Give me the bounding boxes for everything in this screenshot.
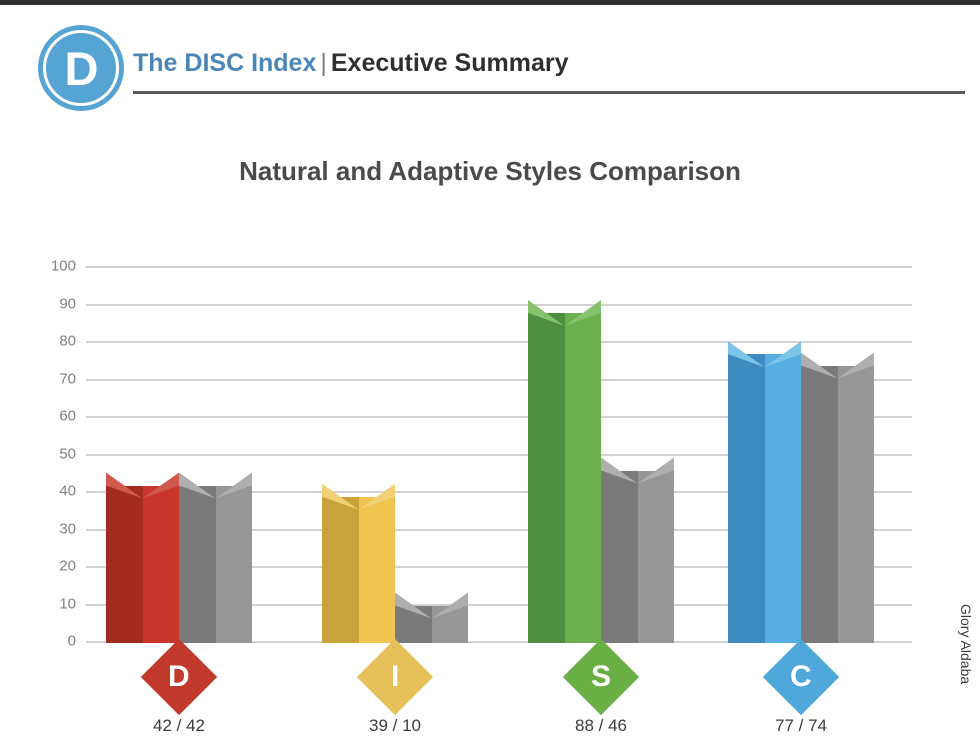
bar-left-face [179, 486, 216, 644]
y-axis-tick-label: 70 [59, 370, 76, 387]
page-title: The DISC Index|Executive Summary [133, 49, 569, 78]
category-diamond-d: D [141, 639, 217, 715]
y-axis-tick-label: 60 [59, 408, 76, 425]
category-letter: S [591, 662, 611, 692]
category-group-s: S88 / 46 [521, 650, 681, 736]
bar-right-face [143, 486, 180, 644]
category-letter: D [168, 662, 190, 692]
bar-adaptive-c [801, 366, 874, 644]
bar-top-cap [322, 484, 395, 510]
y-axis-tick-label: 0 [68, 633, 76, 650]
category-group-d: D42 / 42 [99, 650, 259, 736]
author-credit: Glory Aldaba [958, 604, 974, 684]
y-axis-tick-label: 100 [51, 258, 76, 275]
bar-left-face [801, 366, 838, 644]
page-header: D The DISC Index|Executive Summary [0, 5, 980, 105]
bar-top-cap [179, 473, 252, 499]
category-value-label: 88 / 46 [521, 716, 681, 736]
category-group-c: C77 / 74 [721, 650, 881, 736]
logo-letter: D [65, 45, 98, 92]
y-axis-tick-label: 90 [59, 295, 76, 312]
bar-left-face [728, 354, 765, 643]
bar-adaptive-d [179, 486, 252, 644]
category-value-label: 42 / 42 [99, 716, 259, 736]
bar-left-face [106, 486, 143, 644]
category-diamond-i: I [357, 639, 433, 715]
bar-natural-i [322, 497, 395, 643]
y-axis-tick-label: 50 [59, 445, 76, 462]
y-axis-tick-label: 10 [59, 595, 76, 612]
bar-right-face [216, 486, 253, 644]
bar-top-cap [728, 341, 801, 367]
category-value-label: 77 / 74 [721, 716, 881, 736]
category-value-label: 39 / 10 [315, 716, 475, 736]
y-axis-tick-label: 20 [59, 558, 76, 575]
header-divider [133, 91, 965, 94]
y-axis-tick-label: 80 [59, 333, 76, 350]
bar-natural-c [728, 354, 801, 643]
chart-plot-area: 0102030405060708090100 [86, 268, 912, 643]
bar-series-container [86, 268, 912, 643]
category-diamond-c: C [763, 639, 839, 715]
bar-left-face [601, 471, 638, 644]
report-subtitle: Executive Summary [331, 49, 569, 77]
bar-right-face [565, 313, 602, 643]
bar-top-cap [801, 353, 874, 379]
bar-top-cap [395, 593, 468, 619]
bar-adaptive-i [395, 606, 468, 644]
category-group-i: I39 / 10 [315, 650, 475, 736]
bar-adaptive-s [601, 471, 674, 644]
bar-natural-d [106, 486, 179, 644]
bar-top-cap [106, 473, 179, 499]
brand-name: The DISC Index [133, 49, 316, 77]
bar-right-face [359, 497, 396, 643]
disc-logo: D [38, 25, 124, 111]
category-letter: I [391, 662, 399, 692]
bar-right-face [638, 471, 675, 644]
bar-natural-s [528, 313, 601, 643]
bar-top-cap [528, 300, 601, 326]
y-axis-tick-label: 40 [59, 483, 76, 500]
bar-right-face [838, 366, 875, 644]
chart-title: Natural and Adaptive Styles Comparison [0, 156, 980, 187]
y-axis-tick-label: 30 [59, 520, 76, 537]
bar-top-cap [601, 458, 674, 484]
category-diamond-s: S [563, 639, 639, 715]
title-separator: | [316, 49, 331, 77]
bar-left-face [528, 313, 565, 643]
bar-right-face [765, 354, 802, 643]
bar-left-face [322, 497, 359, 643]
category-letter: C [790, 662, 812, 692]
